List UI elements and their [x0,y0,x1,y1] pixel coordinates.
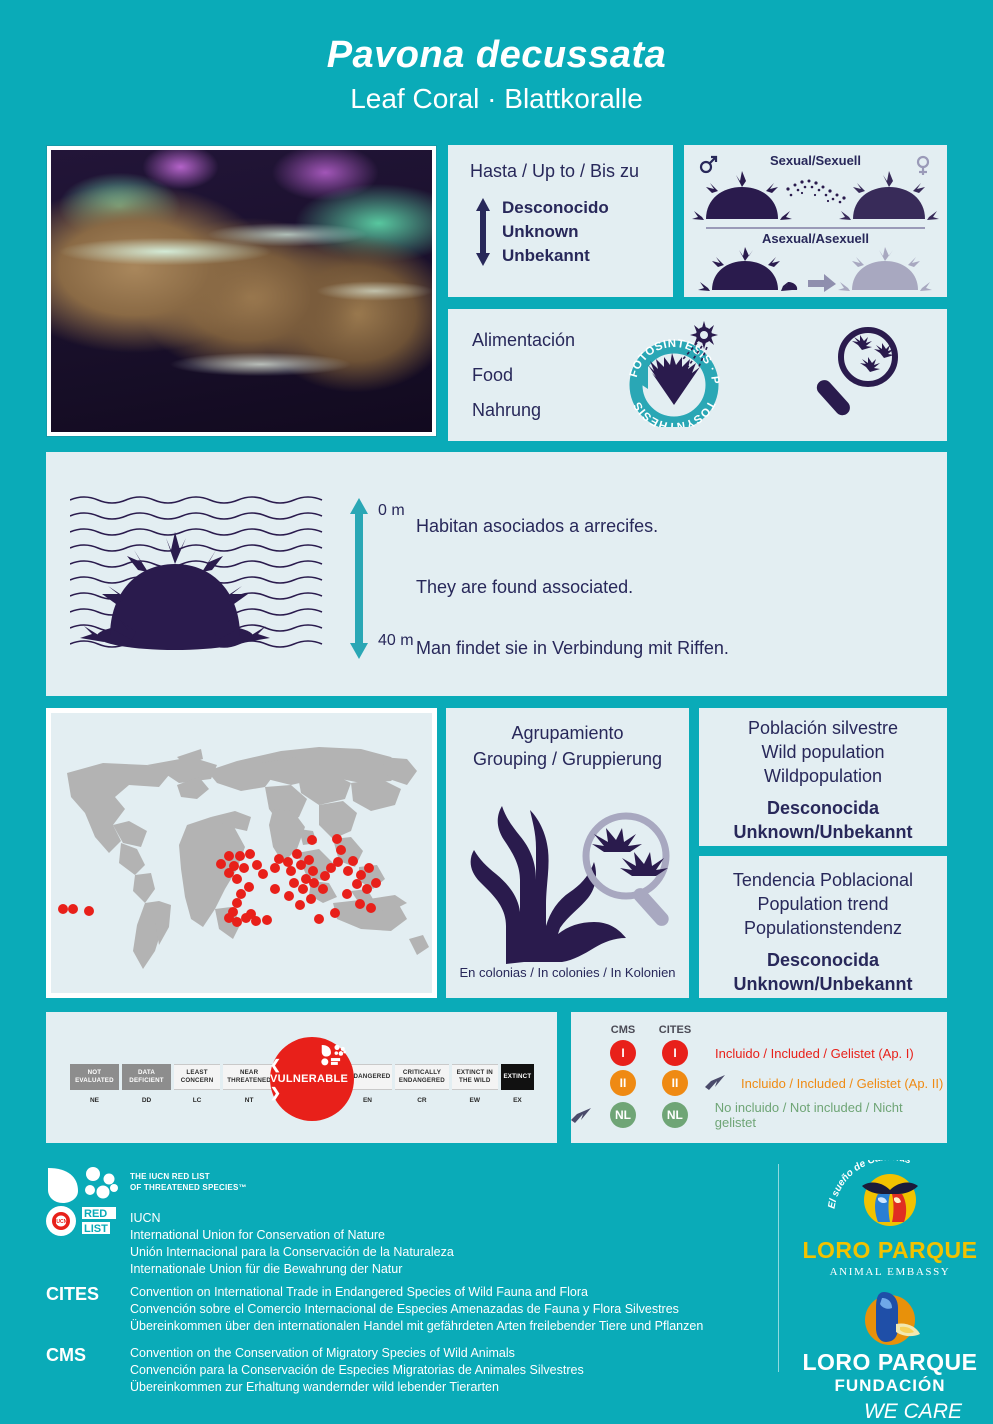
size-value-en: Unknown [502,220,609,244]
status-badge-vulnerable: ❮ VULNERABLE ❯ [270,1037,354,1121]
iucn-redlist-logo-icon [321,1044,347,1066]
magnifier-plankton-icon [814,323,904,428]
badge-slot-cms: II [597,1070,649,1096]
badge-slot-cms: NL [597,1102,649,1128]
badge-slot-cites: NL [649,1102,701,1128]
world-distribution-map [51,713,432,993]
sexual-label: Sexual/Sexuell [684,153,947,168]
iucn-abbr-nt: NT [223,1094,275,1106]
cites-key: CITES [46,1284,99,1305]
iucn-category-ew[interactable]: EXTINCT IN THE WILD [452,1064,498,1090]
svg-text:LIST: LIST [84,1223,108,1235]
iucn-key: IUCN [130,1210,766,1227]
fundacion-name: LORO PARQUE [800,1349,980,1376]
cites-badge-i[interactable]: I [662,1040,688,1066]
depth-top-label: 0 m [378,502,405,520]
iucn-line3: Internationale Union für die Bewahrung d… [130,1261,766,1278]
trend-head-de: Populationstendenz [699,916,947,940]
iucn-category-lc[interactable]: LEAST CONCERN [174,1064,220,1090]
habitat-text: Habitan asociados a arrecifes. They are … [416,452,729,679]
population-trend-panel: Tendencia Poblacional Population trend P… [699,856,947,998]
depth-bottom-label: 40 m [378,632,414,650]
iucn-abbr-dd: DD [122,1094,171,1106]
size-value-de: Unbekannt [502,244,609,268]
food-panel: Alimentación Food Nahrung FOTOSINTESIS ·… [448,309,947,441]
habitat-text-es: Habitan asociados a arrecifes. [416,496,729,557]
footer-iucn-group: IUCN International Union for Conservatio… [130,1164,766,1278]
food-label-es: Alimentación [472,323,575,358]
grouping-title-es: Agrupamiento [446,720,689,746]
food-label-de: Nahrung [472,393,575,428]
cites-badge-ii[interactable]: II [662,1070,688,1096]
iucn-line1: International Union for Conservation of … [130,1227,766,1244]
food-label-en: Food [472,358,575,393]
cms-line1: Convention on the Conservation of Migrat… [130,1345,766,1362]
arrow-pointer-icon-cms [569,1104,593,1129]
cms-line3: Übereinkommen zur Erhaltung wandernder w… [130,1379,766,1396]
trend-head-en: Population trend [699,892,947,916]
habitat-graphic: 0 m 40 m [46,452,416,696]
cms-key: CMS [46,1345,86,1366]
arrow-pointer-icon-cites [703,1071,727,1096]
conventions-panel: CMS CITES IIIncluido / Included / Gelist… [571,1012,947,1143]
iucn-abbr-ex: EX [501,1094,534,1106]
cms-line2: Convención para la Conservación de Espec… [130,1362,766,1379]
coral-colony-magnifier-icon [446,776,689,976]
iucn-abbr-cr: CR [395,1094,449,1106]
cms-badge-nl[interactable]: NL [610,1102,636,1128]
badge-slot-cites: I [649,1040,701,1066]
cites-line1: Convention on International Trade in End… [130,1284,766,1301]
footer-logos: El sueño de Canarias LORO PARQUE ANIMAL … [800,1160,980,1404]
footer-cms-group: CMS Convention on the Conservation of Mi… [46,1345,766,1396]
iucn-category-ex[interactable]: EXTINCT [501,1064,534,1090]
double-arrow-vertical-icon [472,196,494,268]
iucn-redlist-panel: NOT EVALUATEDDATA DEFICIENTLEAST CONCERN… [46,1012,557,1143]
pop-head-en: Wild population [699,740,947,764]
trend-value-es: Desconocida [699,948,947,972]
conventions-header: CMS CITES [571,1024,947,1036]
pop-value-other: Unknown/Unbekannt [699,820,947,844]
grouping-title: Agrupamiento Grouping / Gruppierung [446,720,689,772]
iucn-line2: Unión Internacional para la Conservación… [130,1244,766,1261]
top-row: Hasta / Up to / Bis zu Desconocido Unkno… [46,145,947,441]
iucn-category-ne[interactable]: NOT EVALUATED [70,1064,119,1090]
cites-line2: Convención sobre el Comercio Internacion… [130,1301,766,1318]
wild-population-panel: Población silvestre Wild population Wild… [699,708,947,846]
size-panel: Hasta / Up to / Bis zu Desconocido Unkno… [448,145,673,297]
col-cites: CITES [649,1024,701,1036]
size-values: Desconocido Unknown Unbekannt [502,196,609,268]
size-value-es: Desconocido [502,196,609,220]
conventions-rows: IIIncluido / Included / Gelistet (Ap. I)… [571,1040,947,1130]
distribution-map-panel [46,708,437,998]
convention-text-nl: No incluido / Not included / Nicht gelis… [715,1100,947,1130]
iucn-category-cr[interactable]: CRITICALLY ENDANGERED [395,1064,449,1090]
badge-slot-cites: II [649,1070,701,1096]
habitat-text-en: They are found associated. [416,557,729,618]
pop-head-es: Población silvestre [699,716,947,740]
convention-row-i: IIIncluido / Included / Gelistet (Ap. I) [571,1040,947,1066]
svg-text:RED: RED [84,1208,107,1220]
fundacion-sub: FUNDACIÓN [800,1376,980,1396]
convention-text-ii: Incluido / Included / Gelistet (Ap. II) [741,1076,943,1091]
footer-cites-group: CITES Convention on International Trade … [46,1284,766,1335]
reproduction-panel: Sexual/Sexuell [684,145,947,297]
pop-value-es: Desconocida [699,796,947,820]
loro-parque-name: LORO PARQUE [800,1237,980,1264]
convention-row-ii: IIIIIncluido / Included / Gelistet (Ap. … [571,1070,947,1096]
badge-slot-cms: I [597,1040,649,1066]
cms-badge-ii[interactable]: II [610,1070,636,1096]
size-label: Hasta / Up to / Bis zu [448,161,673,182]
iucn-abbr-ew: EW [452,1094,498,1106]
habitat-text-de: Man findet sie in Verbindung mit Riffen. [416,618,729,679]
pop-head-de: Wildpopulation [699,764,947,788]
scientific-name: Pavona decussata [0,34,993,77]
asexual-label: Asexual/Asexuell [684,231,947,246]
footer-divider [778,1164,779,1372]
loro-parque-logo: El sueño de Canarias LORO PARQUE ANIMAL … [800,1160,980,1272]
page-title: Pavona decussata Leaf Coral · Blattkoral… [0,0,993,115]
habitat-panel: 0 m 40 m Habitan asociados a arrecifes. … [46,452,947,696]
repro-divider [706,227,925,229]
cms-badge-i[interactable]: I [610,1040,636,1066]
iucn-redlist-logo-icon: IUCN REDLIST [46,1166,118,1238]
species-photo [51,150,432,432]
loro-parque-fundacion-logo: LORO PARQUE FUNDACIÓN WE CARE [800,1284,980,1404]
col-cms: CMS [597,1024,649,1036]
trend-value-other: Unknown/Unbekannt [699,972,947,996]
common-name: Leaf Coral · Blattkoralle [0,83,993,115]
iucn-category-nt[interactable]: NEAR THREATENED [223,1064,275,1090]
convention-text-i: Incluido / Included / Gelistet (Ap. I) [715,1046,914,1061]
trend-head-es: Tendencia Poblacional [699,868,947,892]
grouping-caption: En colonias / In colonies / In Kolonien [446,965,689,980]
iucn-abbr-lc: LC [174,1094,220,1106]
photosynthesis-icon: FOTOSINTESIS · PHO TOSYNTHESIS [618,319,728,432]
loro-parque-sub: ANIMAL EMBASSY [800,1266,980,1278]
grouping-panel: Agrupamiento Grouping / Gruppierung En c… [446,708,689,998]
iucn-abbr-ne: NE [70,1094,119,1106]
food-labels: Alimentación Food Nahrung [448,323,575,428]
cites-line3: Übereinkommen über den internationalen H… [130,1318,766,1335]
convention-row-nl: NLNLNo incluido / Not included / Nicht g… [571,1100,947,1130]
svg-text:IUCN: IUCN [55,1219,68,1225]
species-photo-frame [46,145,437,437]
grouping-title-other: Grouping / Gruppierung [446,746,689,772]
iucn-category-dd[interactable]: DATA DEFICIENT [122,1064,171,1090]
footer: IUCN REDLIST THE IUCN RED LIST OF THREAT… [0,1150,993,1404]
cites-badge-nl[interactable]: NL [662,1102,688,1128]
